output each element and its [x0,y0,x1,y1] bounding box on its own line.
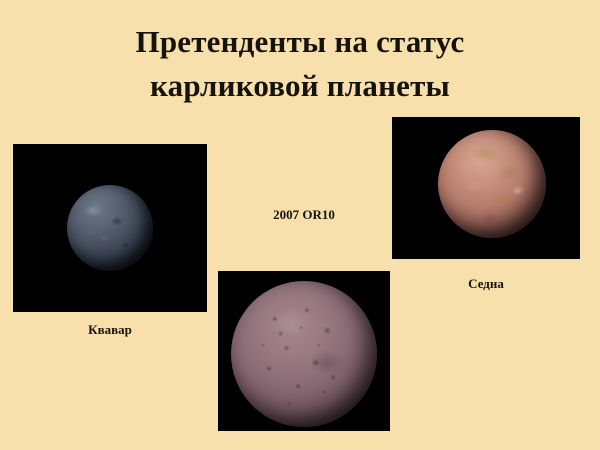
figure-caption-sedna: Седна [392,276,580,292]
planet-sphere-sedna [438,130,546,238]
figure-panel-or10[interactable] [218,271,390,431]
figure-caption-quaoar: Квавар [13,322,207,338]
presentation-slide: Претенденты на статус карликовой планеты… [0,0,600,450]
planet-sphere-quaoar [67,185,153,271]
planet-surface-detail [67,185,153,271]
figure-caption-or10: 2007 OR10 [218,207,390,223]
page-title: Претенденты на статус карликовой планеты [60,20,540,108]
figure-panel-sedna[interactable] [392,117,580,259]
figure-panel-quaoar[interactable] [13,144,207,312]
planet-surface-detail [231,281,377,427]
sedna-planet-image [392,117,580,259]
planet-surface-detail [438,130,546,238]
quaoar-planet-image [13,144,207,312]
2007-or10-planet-image [218,271,390,431]
planet-sphere-or10 [231,281,377,427]
